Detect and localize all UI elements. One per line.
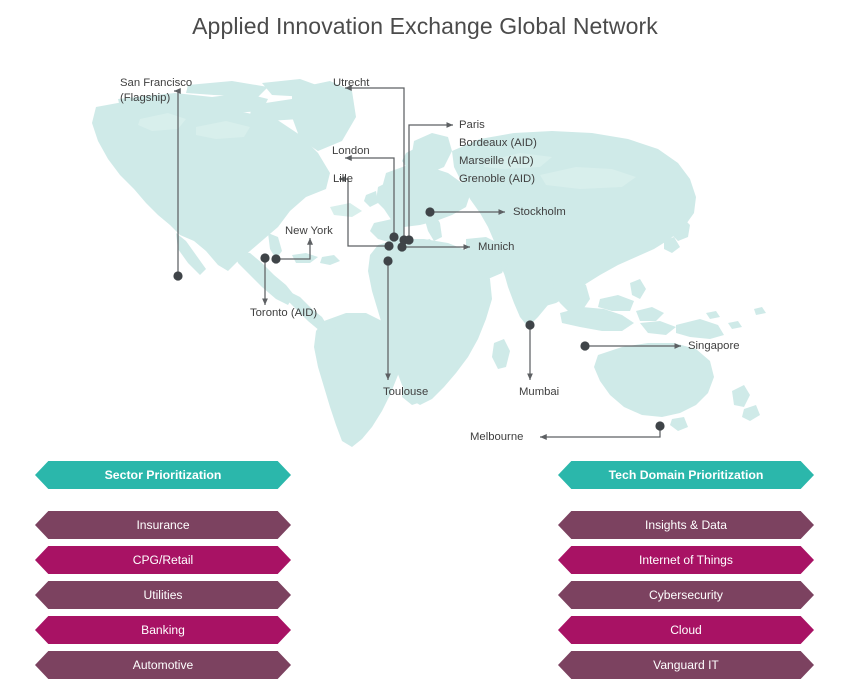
- label-toulouse: Toulouse: [383, 385, 428, 400]
- world-map-diagram: San Francisco (Flagship) Toronto (AID) N…: [0, 55, 850, 455]
- label-toronto: Toronto (AID): [250, 306, 317, 321]
- dot-melbourne: [655, 421, 664, 430]
- label-san-francisco: San Francisco (Flagship): [120, 76, 192, 105]
- label-singapore: Singapore: [688, 339, 740, 354]
- tech-item-vanguard-it[interactable]: Vanguard IT: [558, 651, 814, 679]
- label-san-francisco-sublabel: (Flagship): [120, 91, 192, 106]
- sector-item-automotive[interactable]: Automotive: [35, 651, 291, 679]
- label-lille: Lille: [333, 172, 353, 187]
- dot-toulouse: [383, 256, 392, 265]
- label-new-york: New York: [285, 224, 333, 239]
- dot-stockholm: [425, 207, 434, 216]
- sector-item-insurance[interactable]: Insurance: [35, 511, 291, 539]
- label-london: London: [332, 144, 370, 159]
- sector-item-cpg-retail[interactable]: CPG/Retail: [35, 546, 291, 574]
- dot-singapore: [580, 341, 589, 350]
- dot-london: [389, 232, 398, 241]
- label-stockholm: Stockholm: [513, 205, 566, 220]
- connector-melbourne: [540, 426, 660, 437]
- tech-item-internet-of-things[interactable]: Internet of Things: [558, 546, 814, 574]
- dot-san-francisco: [173, 271, 182, 280]
- tech-item-cybersecurity[interactable]: Cybersecurity: [558, 581, 814, 609]
- dot-toronto: [260, 253, 269, 262]
- sector-prioritization-heading: Sector Prioritization: [35, 461, 291, 489]
- landmasses: [92, 79, 766, 447]
- label-marseille: Marseille (AID): [459, 154, 534, 169]
- dot-mumbai: [525, 320, 534, 329]
- sector-item-banking[interactable]: Banking: [35, 616, 291, 644]
- label-san-francisco-text: San Francisco: [120, 76, 192, 91]
- label-utrecht: Utrecht: [333, 76, 369, 91]
- tech-item-cloud[interactable]: Cloud: [558, 616, 814, 644]
- tech-domain-prioritization-heading: Tech Domain Prioritization: [558, 461, 814, 489]
- dot-new-york: [271, 254, 280, 263]
- label-melbourne: Melbourne: [470, 430, 523, 445]
- label-grenoble: Grenoble (AID): [459, 172, 535, 187]
- sector-item-utilities[interactable]: Utilities: [35, 581, 291, 609]
- label-paris: Paris: [459, 118, 485, 133]
- tech-item-insights-data[interactable]: Insights & Data: [558, 511, 814, 539]
- dot-lille: [384, 241, 393, 250]
- label-mumbai: Mumbai: [519, 385, 559, 400]
- label-munich: Munich: [478, 240, 514, 255]
- sector-prioritization-column: Sector Prioritization Insurance CPG/Reta…: [35, 461, 291, 686]
- dot-paris: [404, 235, 413, 244]
- page-title: Applied Innovation Exchange Global Netwo…: [0, 13, 850, 40]
- label-bordeaux: Bordeaux (AID): [459, 136, 537, 151]
- tech-domain-prioritization-column: Tech Domain Prioritization Insights & Da…: [558, 461, 814, 686]
